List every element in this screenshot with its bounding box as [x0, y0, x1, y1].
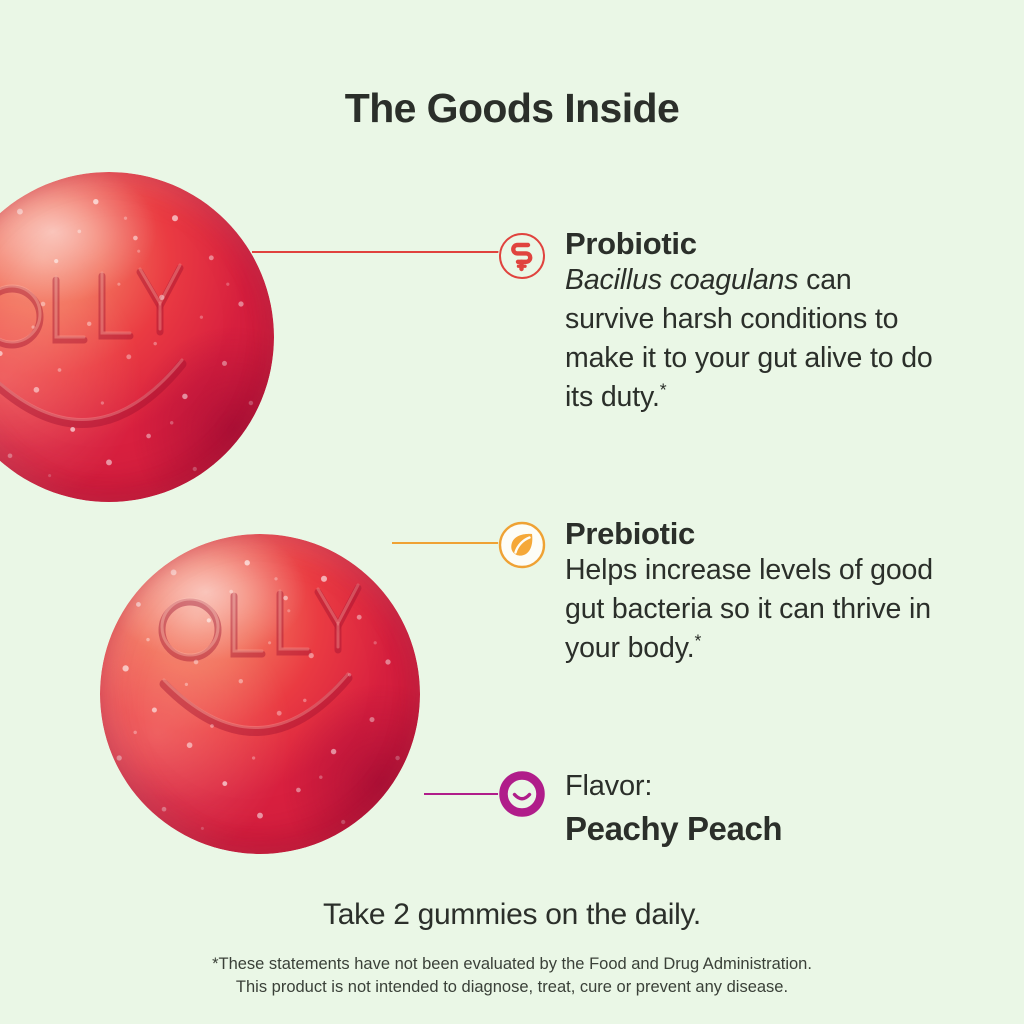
benefit-probiotic: Probiotic Bacillus coagulans can survive… — [565, 228, 935, 417]
disclaimer-line-2: This product is not intended to diagnose… — [0, 976, 1024, 999]
gummy-rim-shading — [100, 534, 420, 854]
gummy-image-top — [0, 172, 274, 502]
disclaimer-line-1: *These statements have not been evaluate… — [0, 953, 1024, 976]
product-benefits-graphic: The Goods Inside — [0, 0, 1024, 1024]
scientific-name: Bacillus coagulans — [565, 264, 798, 296]
benefit-title-probiotic: Probiotic — [565, 228, 935, 261]
gummy-image-bottom — [100, 534, 420, 854]
footnote-marker: * — [694, 630, 701, 650]
flavor-label: Flavor: — [565, 770, 935, 803]
benefit-body-prebiotic: Helps increase levels of good gut bacter… — [565, 551, 935, 668]
benefit-prebiotic: Prebiotic Helps increase levels of good … — [565, 518, 935, 668]
leaf-icon — [498, 521, 546, 569]
connector-line-probiotic — [252, 251, 502, 253]
flavor-block: Flavor: Peachy Peach — [565, 770, 935, 849]
intestine-icon — [498, 232, 546, 280]
benefit-title-prebiotic: Prebiotic — [565, 518, 935, 551]
smiley-icon — [498, 770, 546, 818]
fda-disclaimer: *These statements have not been evaluate… — [0, 953, 1024, 1000]
footnote-marker: * — [660, 379, 667, 399]
benefit-body-probiotic: Bacillus coagulans can survive harsh con… — [565, 261, 935, 417]
connector-line-prebiotic — [392, 542, 504, 544]
benefit-body-text: Helps increase levels of good gut bacter… — [565, 554, 933, 664]
connector-line-flavor — [424, 793, 504, 795]
dosage-instruction: Take 2 gummies on the daily. — [0, 898, 1024, 932]
flavor-value: Peachy Peach — [565, 809, 935, 849]
page-title: The Goods Inside — [0, 85, 1024, 132]
